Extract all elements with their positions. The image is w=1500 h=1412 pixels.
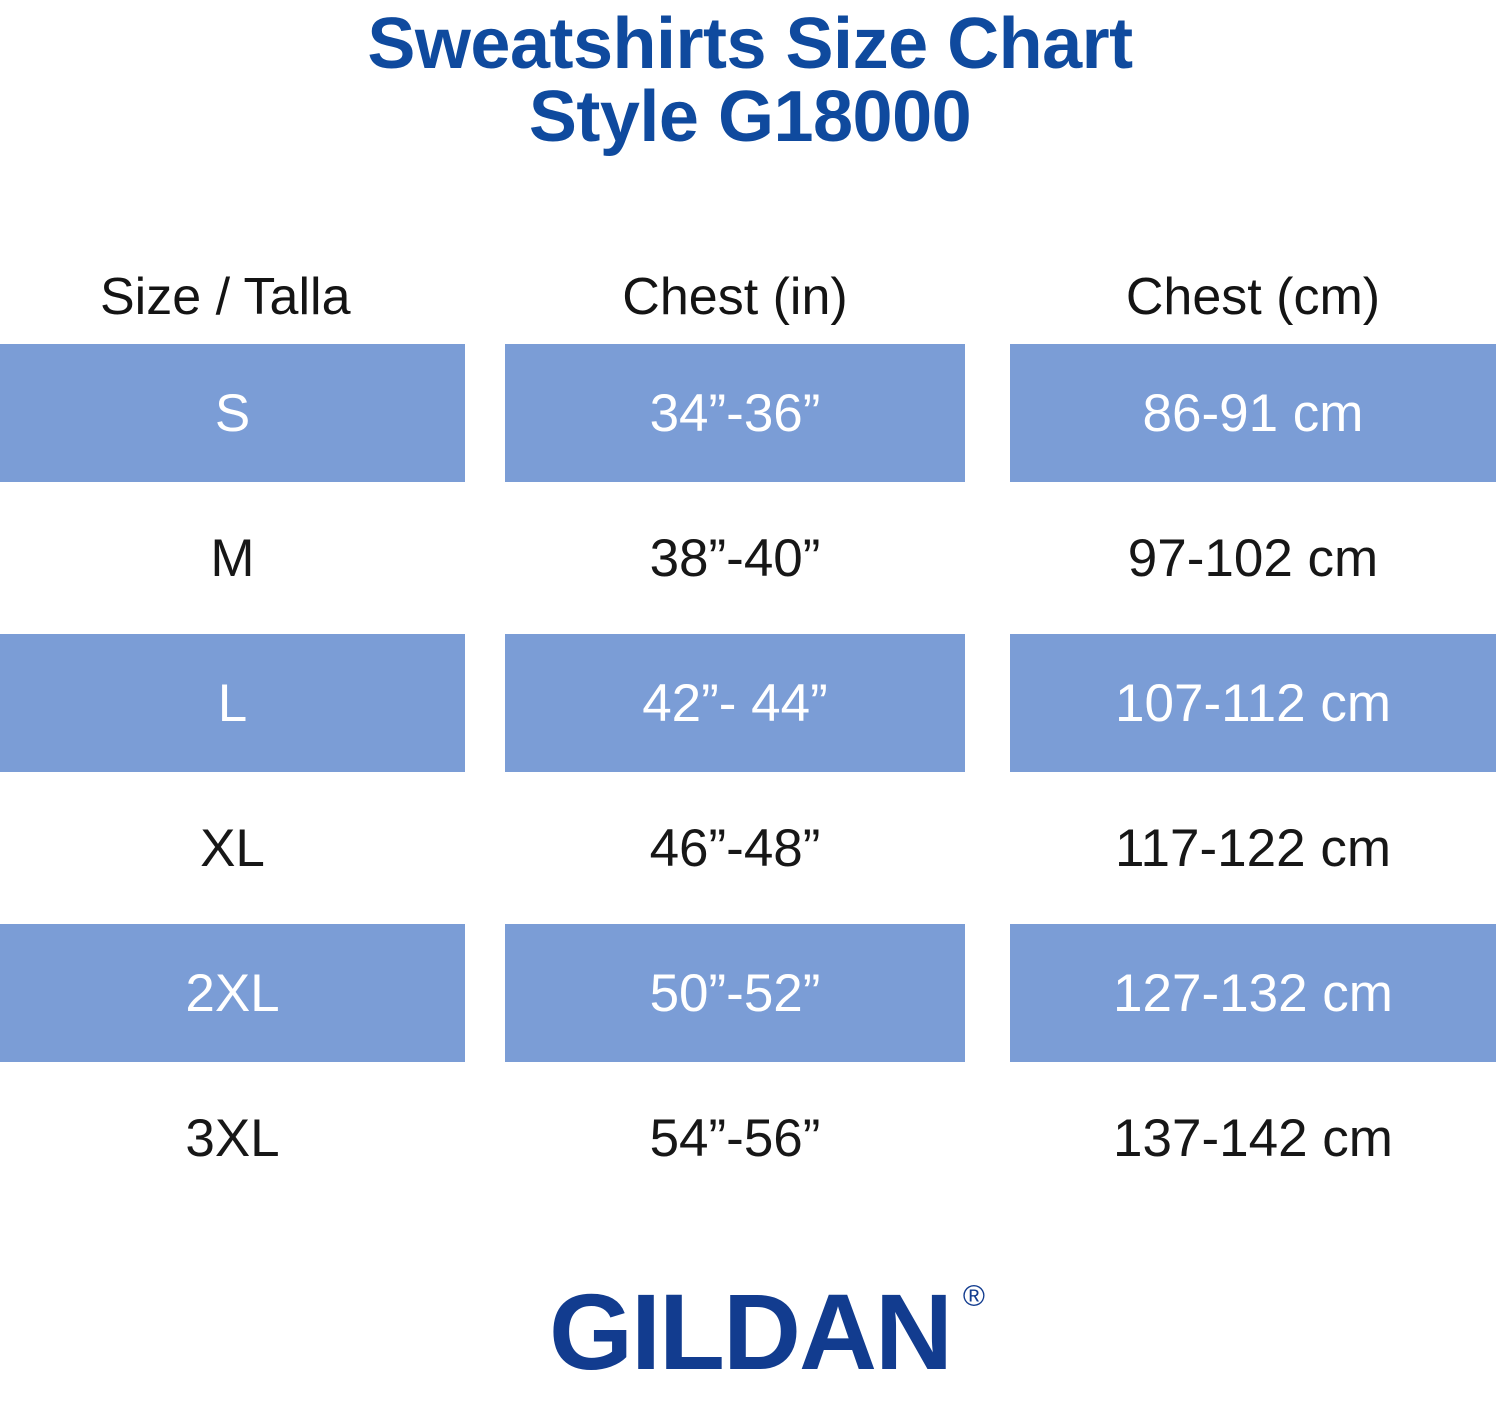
cell-size: 3XL — [0, 1069, 465, 1207]
gildan-logo: GILDAN ® — [549, 1278, 951, 1386]
column-header-chest-cm: Chest (cm) — [1010, 252, 1496, 342]
cell-chest-cm: 137-142 cm — [1010, 1069, 1496, 1207]
table-header-row: Size / Talla Chest (in) Chest (cm) — [0, 252, 1500, 344]
registered-trademark-icon: ® — [963, 1282, 985, 1312]
cell-chest-in: 38”-40” — [505, 489, 965, 627]
cell-chest-in: 46”-48” — [505, 779, 965, 917]
table-row: XL 46”-48” 117-122 cm — [0, 779, 1500, 924]
column-header-chest-in: Chest (in) — [505, 252, 965, 342]
cell-chest-cm: 127-132 cm — [1010, 924, 1496, 1062]
table-row: L 42”- 44” 107-112 cm — [0, 634, 1500, 779]
cell-chest-in: 34”-36” — [505, 344, 965, 482]
cell-chest-in: 54”-56” — [505, 1069, 965, 1207]
cell-chest-cm: 107-112 cm — [1010, 634, 1496, 772]
cell-chest-in: 50”-52” — [505, 924, 965, 1062]
page-title: Sweatshirts Size Chart Style G18000 — [0, 8, 1500, 155]
cell-chest-cm: 86-91 cm — [1010, 344, 1496, 482]
cell-chest-in: 42”- 44” — [505, 634, 965, 772]
gildan-wordmark: GILDAN — [549, 1271, 951, 1392]
table-row: 2XL 50”-52” 127-132 cm — [0, 924, 1500, 1069]
cell-chest-cm: 117-122 cm — [1010, 779, 1496, 917]
column-header-size: Size / Talla — [0, 252, 465, 342]
table-row: M 38”-40” 97-102 cm — [0, 489, 1500, 634]
footer: GILDAN ® — [0, 1278, 1500, 1386]
cell-size: L — [0, 634, 465, 772]
table-row: 3XL 54”-56” 137-142 cm — [0, 1069, 1500, 1214]
cell-size: XL — [0, 779, 465, 917]
cell-size: 2XL — [0, 924, 465, 1062]
table-row: S 34”-36” 86-91 cm — [0, 344, 1500, 489]
size-chart-table: Size / Talla Chest (in) Chest (cm) S 34”… — [0, 252, 1500, 1214]
cell-size: S — [0, 344, 465, 482]
page-title-line-1: Sweatshirts Size Chart — [0, 8, 1500, 81]
size-chart-page: Sweatshirts Size Chart Style G18000 Size… — [0, 0, 1500, 1412]
cell-chest-cm: 97-102 cm — [1010, 489, 1496, 627]
cell-size: M — [0, 489, 465, 627]
page-title-line-2: Style G18000 — [0, 81, 1500, 154]
